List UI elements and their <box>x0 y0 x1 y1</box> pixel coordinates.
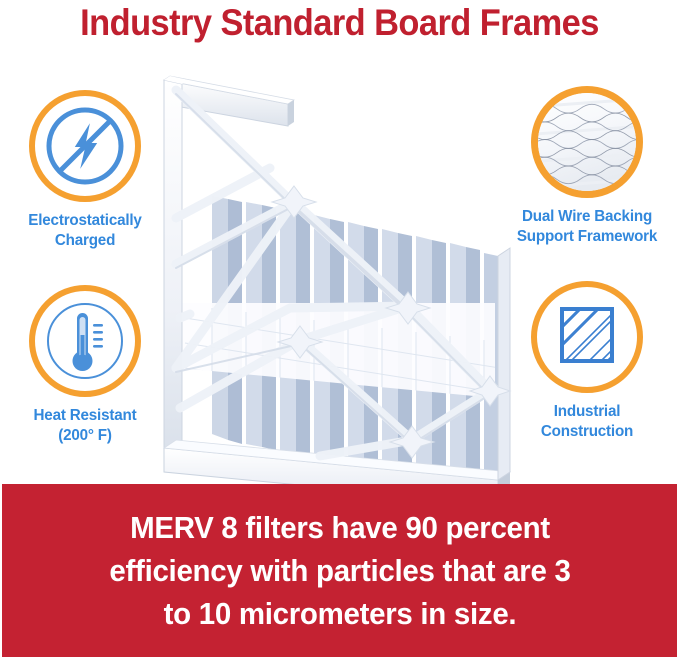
feature-label-line2: (200° F) <box>4 426 166 446</box>
feature-dual-wire-backing: Dual Wire Backing Support Framework <box>502 86 672 247</box>
wire-mesh-photo-icon <box>531 86 643 198</box>
infographic-page: Industry Standard Board Frames <box>0 0 679 659</box>
feature-label-line1: Electrostatically <box>4 211 166 231</box>
banner-text: MERV 8 filters have 90 percent efficienc… <box>45 506 634 635</box>
feature-heat-resistant: Heat Resistant (200° F) <box>0 285 170 446</box>
feature-label-line1: Dual Wire Backing <box>506 207 668 227</box>
banner-line-1: MERV 8 filters have 90 percent <box>45 506 634 549</box>
feature-electrostatically-charged: Electrostatically Charged <box>0 90 170 251</box>
banner-line-3: to 10 micrometers in size. <box>45 592 634 635</box>
feature-label-line1: Heat Resistant <box>4 406 166 426</box>
feature-label-line2: Construction <box>506 422 668 442</box>
feature-label: Industrial Construction <box>506 402 668 442</box>
feature-label: Heat Resistant (200° F) <box>4 406 166 446</box>
banner-line-2: efficiency with particles that are 3 <box>45 549 634 592</box>
feature-label-line2: Support Framework <box>506 227 668 247</box>
feature-label-line2: Charged <box>4 231 166 251</box>
product-image <box>150 68 530 488</box>
lattice-square-icon <box>531 281 643 393</box>
thermometer-icon <box>29 285 141 397</box>
feature-industrial-construction: Industrial Construction <box>502 281 672 442</box>
feature-label: Dual Wire Backing Support Framework <box>506 207 668 247</box>
feature-label: Electrostatically Charged <box>4 211 166 251</box>
page-title: Industry Standard Board Frames <box>24 2 655 44</box>
no-electricity-icon <box>29 90 141 202</box>
feature-label-line1: Industrial <box>506 402 668 422</box>
merv-rating-banner: MERV 8 filters have 90 percent efficienc… <box>2 484 677 657</box>
